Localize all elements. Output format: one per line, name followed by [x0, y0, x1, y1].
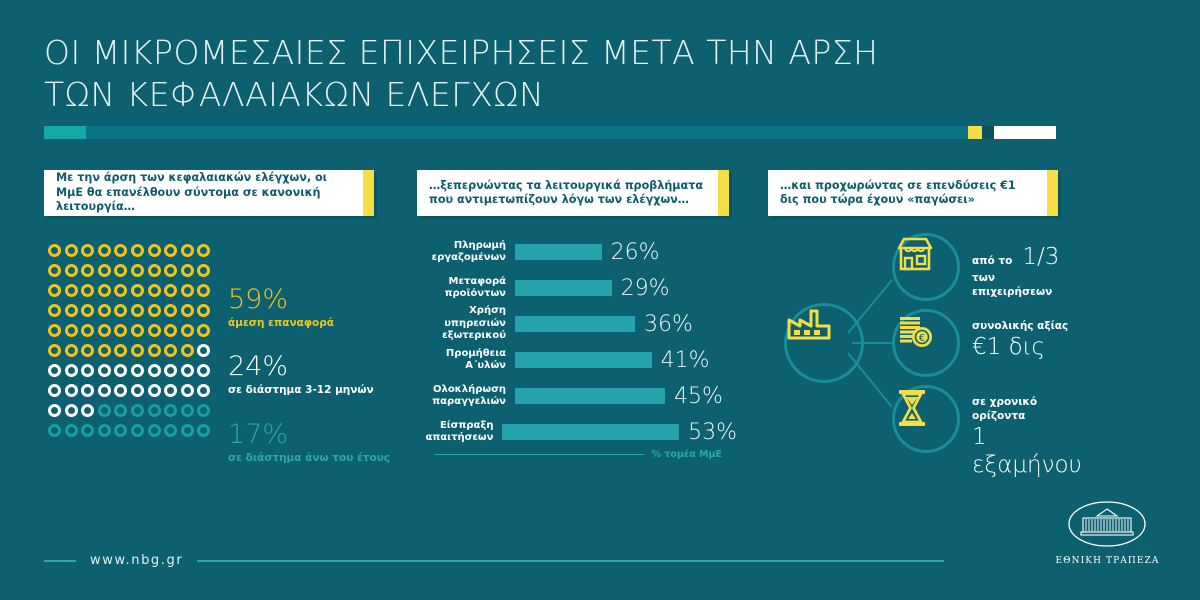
bar-track: 26%	[515, 240, 737, 265]
bar-track: 45%	[515, 384, 737, 409]
dot-marker	[48, 344, 61, 357]
dot-marker	[48, 404, 61, 417]
dot-marker	[197, 244, 210, 257]
hub-node-1-sub: των επιχειρήσεων	[972, 271, 1072, 299]
dot-marker	[197, 324, 210, 337]
bar-chart-axis: % τομέα ΜμΕ	[434, 449, 722, 460]
hub-center-node	[784, 303, 864, 383]
bar-track: 36%	[515, 312, 737, 337]
dot-marker	[164, 384, 177, 397]
dot-marker	[131, 244, 144, 257]
dot-marker	[131, 424, 144, 437]
footer-rule-left	[44, 560, 76, 562]
dot-marker	[197, 304, 210, 317]
dot-marker	[131, 284, 144, 297]
dot-marker	[181, 264, 194, 277]
bar-track: 29%	[515, 276, 737, 301]
hub-node-2-circle: €	[892, 309, 960, 377]
divider-segment-white	[994, 126, 1056, 139]
dot-marker	[197, 384, 210, 397]
hub-node-2-text: συνολικής αξίας €1 δις	[972, 319, 1068, 361]
dot-marker	[114, 384, 127, 397]
dot-marker	[48, 264, 61, 277]
dot-marker	[65, 304, 78, 317]
dot-marker	[148, 404, 161, 417]
hub-node-2-sub: συνολικής αξίας	[972, 319, 1068, 333]
dot-marker	[148, 304, 161, 317]
panel-header-right-text: …και προχωρώντας σε επενδύσεις €1 δις πο…	[768, 179, 1047, 208]
svg-text:€: €	[919, 333, 925, 344]
bar-label: Χρήση υπηρεσιώνεξωτερικού	[417, 305, 515, 343]
panel-header-right: …και προχωρώντας σε επενδύσεις €1 δις πο…	[768, 170, 1058, 216]
bar-fill	[515, 280, 612, 296]
dot-marker	[131, 264, 144, 277]
dot-marker	[131, 404, 144, 417]
bar-value-label: 45%	[674, 384, 723, 409]
hub-node-3-headline: 1 εξαμήνου	[972, 423, 1082, 479]
dot-marker	[48, 384, 61, 397]
dot-marker	[48, 304, 61, 317]
dot-marker	[181, 364, 194, 377]
bar-fill	[515, 244, 602, 260]
bar-label: Είσπραξηαπαιτήσεων	[417, 420, 502, 445]
panel-header-middle: …ξεπερνώντας τα λειτουργικά προβλήματα π…	[417, 170, 729, 216]
dot-marker	[164, 264, 177, 277]
bar-chart-row: Μεταφοράπροϊόντων29%	[417, 272, 737, 304]
dot-marker	[81, 324, 94, 337]
dot-marker	[81, 304, 94, 317]
bar-value-label: 53%	[688, 420, 737, 445]
dot-marker	[48, 284, 61, 297]
dot-marker	[148, 244, 161, 257]
bar-chart-row: ΠρομήθειαΑ΄υλών41%	[417, 344, 737, 376]
bar-fill	[502, 424, 679, 440]
bar-value-label: 29%	[621, 276, 670, 301]
dot-marker	[81, 344, 94, 357]
dot-marker	[98, 424, 111, 437]
bar-value-label: 41%	[661, 348, 710, 373]
dot-marker	[131, 324, 144, 337]
investment-hub-diagram: από το 1/3 των επιχειρήσεων € συνολικής …	[752, 225, 1072, 495]
page-title-line-1: ΟΙ ΜΙΚΡΟΜΕΣΑΙΕΣ ΕΠΙΧΕΙΡΗΣΕΙΣ ΜΕΤΑ ΤΗΝ ΑΡ…	[44, 33, 879, 72]
dot-marker	[164, 304, 177, 317]
header-divider-bar	[44, 126, 1056, 139]
hub-node-1-prefix: από το	[972, 255, 1012, 267]
dot-marker	[81, 284, 94, 297]
dot-legend-label-1: άμεση επαναφορά	[228, 317, 334, 329]
bar-label: Ολοκλήρωσηπαραγγελιών	[417, 384, 515, 409]
dot-legend-item-1: 59% άμεση επαναφορά	[228, 285, 334, 329]
dot-marker	[131, 344, 144, 357]
dot-marker	[114, 424, 127, 437]
dot-marker	[81, 424, 94, 437]
dot-marker	[181, 424, 194, 437]
dot-marker	[81, 264, 94, 277]
dot-marker	[81, 384, 94, 397]
page-title: ΟΙ ΜΙΚΡΟΜΕΣΑΙΕΣ ΕΠΙΧΕΙΡΗΣΕΙΣ ΜΕΤΑ ΤΗΝ ΑΡ…	[44, 32, 1024, 116]
hub-node-1-headline: από το 1/3	[972, 243, 1072, 271]
dot-marker	[197, 284, 210, 297]
dot-marker	[148, 384, 161, 397]
hub-node-1-circle	[892, 233, 960, 301]
dot-marker	[148, 284, 161, 297]
dot-matrix-row	[48, 260, 224, 280]
dot-marker	[65, 324, 78, 337]
dot-marker	[114, 264, 127, 277]
dot-marker	[98, 304, 111, 317]
dot-marker	[114, 244, 127, 257]
dot-legend-item-3: 17% σε διάστημα άνω του έτους	[228, 420, 390, 464]
dot-marker	[148, 424, 161, 437]
dot-marker	[197, 364, 210, 377]
bar-value-label: 36%	[644, 312, 693, 337]
dot-marker	[48, 244, 61, 257]
bar-chart-row: Ολοκλήρωσηπαραγγελιών45%	[417, 380, 737, 412]
bar-track: 53%	[502, 420, 737, 445]
dot-marker	[48, 364, 61, 377]
nbg-logo-name: ΕΘΝΙΚΗ ΤΡΑΠΕΖΑ	[1055, 556, 1160, 566]
dot-marker	[98, 364, 111, 377]
panel-header-right-accent	[1047, 170, 1058, 216]
dot-marker	[197, 424, 210, 437]
dot-marker	[65, 344, 78, 357]
dot-marker	[164, 424, 177, 437]
dot-marker	[148, 344, 161, 357]
hub-node-3-text: σε χρονικό ορίζοντα 1 εξαμήνου	[972, 395, 1082, 479]
dot-marker	[114, 364, 127, 377]
dot-matrix-row	[48, 400, 224, 420]
dot-marker	[114, 404, 127, 417]
panel-header-left-accent	[363, 170, 374, 216]
dot-marker	[164, 344, 177, 357]
dot-matrix-row	[48, 240, 224, 260]
dot-marker	[48, 424, 61, 437]
dot-marker	[164, 284, 177, 297]
dot-marker	[181, 404, 194, 417]
dot-marker	[197, 404, 210, 417]
bar-fill	[515, 388, 665, 404]
bar-fill	[515, 352, 652, 368]
dot-matrix-row	[48, 420, 224, 440]
bar-label: ΠρομήθειαΑ΄υλών	[417, 348, 515, 373]
dot-legend-value-1: 59%	[228, 285, 334, 315]
dot-marker	[131, 364, 144, 377]
dot-marker	[81, 404, 94, 417]
dot-marker	[181, 244, 194, 257]
nbg-logo: ΕΘΝΙΚΗ ΤΡΑΠΕΖΑ	[1055, 500, 1160, 566]
coins-euro-icon: €	[895, 312, 937, 350]
dot-marker	[181, 284, 194, 297]
dot-marker	[181, 304, 194, 317]
dot-marker	[148, 364, 161, 377]
footer: www.nbg.gr	[44, 553, 944, 568]
divider-segment-teal-accent	[44, 126, 86, 139]
panel-header-middle-accent	[718, 170, 729, 216]
dot-marker	[114, 324, 127, 337]
hub-node-3-circle	[892, 385, 960, 453]
hourglass-icon	[895, 388, 929, 428]
dot-marker	[131, 304, 144, 317]
page-title-line-2: ΤΩΝ ΚΕΦΑΛΑΙΑΚΩΝ ΕΛΕΓΧΩΝ	[44, 74, 1024, 116]
bar-chart-row: Είσπραξηαπαιτήσεων53%	[417, 416, 737, 448]
dot-marker	[98, 344, 111, 357]
dot-marker	[197, 344, 210, 357]
dot-marker	[164, 244, 177, 257]
hub-node-1-text: από το 1/3 των επιχειρήσεων	[972, 243, 1072, 299]
dot-marker	[148, 324, 161, 337]
bar-label: Μεταφοράπροϊόντων	[417, 276, 515, 301]
factory-icon	[787, 306, 831, 340]
divider-segment-yellow	[968, 126, 982, 139]
hub-node-1-fraction: 1/3	[1022, 244, 1059, 270]
dot-marker	[98, 404, 111, 417]
dot-matrix-row	[48, 340, 224, 360]
footer-rule-right	[197, 560, 944, 562]
dot-marker	[164, 364, 177, 377]
dot-marker	[114, 284, 127, 297]
dot-marker	[98, 324, 111, 337]
dot-marker	[65, 424, 78, 437]
divider-segment-gap	[982, 126, 994, 139]
dot-marker	[65, 404, 78, 417]
hub-node-2-headline: €1 δις	[972, 333, 1068, 361]
hub-node-3-sub: σε χρονικό ορίζοντα	[972, 395, 1082, 423]
bar-track: 41%	[515, 348, 737, 373]
dot-marker	[164, 404, 177, 417]
nbg-building-oval-logo	[1055, 500, 1160, 548]
bar-fill	[515, 316, 635, 332]
dot-marker	[98, 264, 111, 277]
dot-marker	[197, 264, 210, 277]
dot-legend-value-3: 17%	[228, 420, 390, 450]
dot-matrix-row	[48, 280, 224, 300]
bar-chart-axis-caption: % τομέα ΜμΕ	[652, 449, 722, 460]
dot-legend-item-2: 24% σε διάστημα 3-12 μηνών	[228, 352, 374, 396]
dot-marker	[65, 244, 78, 257]
dot-marker	[114, 344, 127, 357]
dot-marker	[181, 344, 194, 357]
dot-matrix-row	[48, 320, 224, 340]
dot-marker	[98, 244, 111, 257]
dot-marker	[48, 324, 61, 337]
dot-matrix-row	[48, 380, 224, 400]
dot-marker	[148, 264, 161, 277]
dot-legend-value-2: 24%	[228, 352, 374, 382]
dot-marker	[65, 264, 78, 277]
bar-value-label: 26%	[611, 240, 660, 265]
panel-header-middle-text: …ξεπερνώντας τα λειτουργικά προβλήματα π…	[417, 179, 718, 208]
dot-marker	[164, 324, 177, 337]
bar-chart-row: Χρήση υπηρεσιώνεξωτερικού36%	[417, 308, 737, 340]
dot-marker	[114, 304, 127, 317]
bar-chart-row: Πληρωμήεργαζομένων26%	[417, 236, 737, 268]
dot-matrix-chart	[48, 240, 224, 440]
bar-label: Πληρωμήεργαζομένων	[417, 240, 515, 265]
dot-marker	[65, 364, 78, 377]
dot-marker	[81, 364, 94, 377]
dot-marker	[81, 244, 94, 257]
dot-marker	[181, 384, 194, 397]
panel-header-left-text: Με την άρση των κεφαλαιακών ελέγχων, οι …	[44, 171, 363, 215]
dot-marker	[98, 384, 111, 397]
dot-legend-label-3: σε διάστημα άνω του έτους	[228, 452, 390, 464]
panel-header-left: Με την άρση των κεφαλαιακών ελέγχων, οι …	[44, 170, 374, 216]
dot-marker	[65, 284, 78, 297]
infographic-page: ΟΙ ΜΙΚΡΟΜΕΣΑΙΕΣ ΕΠΙΧΕΙΡΗΣΕΙΣ ΜΕΤΑ ΤΗΝ ΑΡ…	[0, 0, 1200, 600]
dot-marker	[65, 384, 78, 397]
dot-marker	[131, 384, 144, 397]
dot-marker	[181, 324, 194, 337]
storefront-icon	[895, 236, 935, 272]
dot-matrix-row	[48, 300, 224, 320]
dot-legend-label-2: σε διάστημα 3-12 μηνών	[228, 384, 374, 396]
dot-matrix-row	[48, 360, 224, 380]
bar-chart-axis-line	[434, 454, 644, 455]
divider-segment-main	[86, 126, 968, 139]
bar-chart: Πληρωμήεργαζομένων26%Μεταφοράπροϊόντων29…	[417, 236, 737, 452]
footer-url[interactable]: www.nbg.gr	[76, 553, 197, 568]
dot-marker	[98, 284, 111, 297]
